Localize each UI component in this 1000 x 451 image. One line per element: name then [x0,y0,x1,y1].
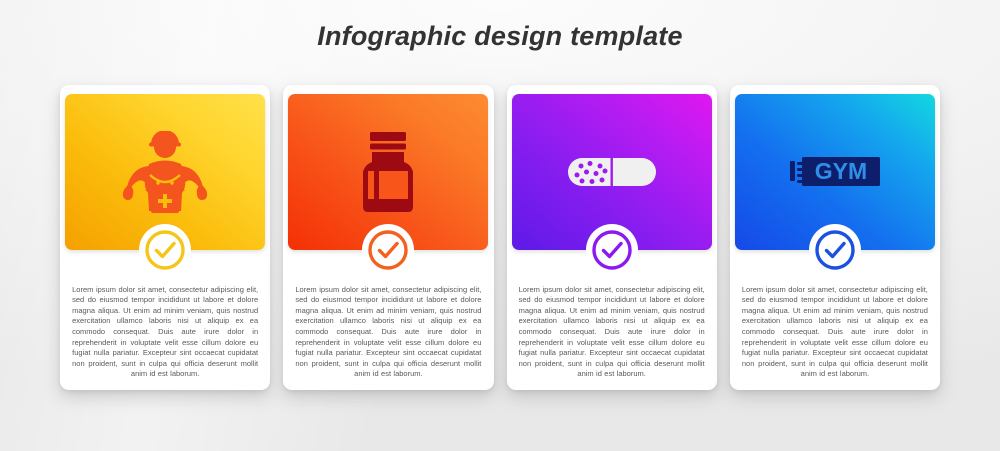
card-description: Lorem ipsum dolor sit amet, consectetur … [295,285,481,390]
infographic-card[interactable]: Lorem ipsum dolor sit amet, consectetur … [283,85,493,390]
card-description: Lorem ipsum dolor sit amet, consectetur … [72,285,258,390]
gym-sign-icon: GYM [788,130,882,214]
infographic-card[interactable]: Lorem ipsum dolor sit amet, consectetur … [507,85,717,390]
medicine-pill-capsule-icon [565,130,659,214]
check-badge [809,224,861,276]
card-icon-panel [288,94,488,250]
infographic-cards-row: Lorem ipsum dolor sit amet, consectetur … [60,85,940,390]
gym-sign-label: GYM [815,158,867,184]
sport-nutrition-jar-icon [341,130,435,214]
card-description: Lorem ipsum dolor sit amet, consectetur … [742,285,928,390]
card-icon-panel [512,94,712,250]
infographic-card[interactable]: GYM Lorem ipsum dolor sit amet, consecte… [730,85,940,390]
infographic-card[interactable]: Lorem ipsum dolor sit amet, consectetur … [60,85,270,390]
card-icon-panel: GYM [735,94,935,250]
check-badge [362,224,414,276]
card-icon-panel [65,94,265,250]
page-title: Infographic design template [0,21,1000,52]
card-description: Lorem ipsum dolor sit amet, consectetur … [519,285,705,390]
check-badge [139,224,191,276]
check-badge [586,224,638,276]
bodybuilder-detail [119,131,211,213]
